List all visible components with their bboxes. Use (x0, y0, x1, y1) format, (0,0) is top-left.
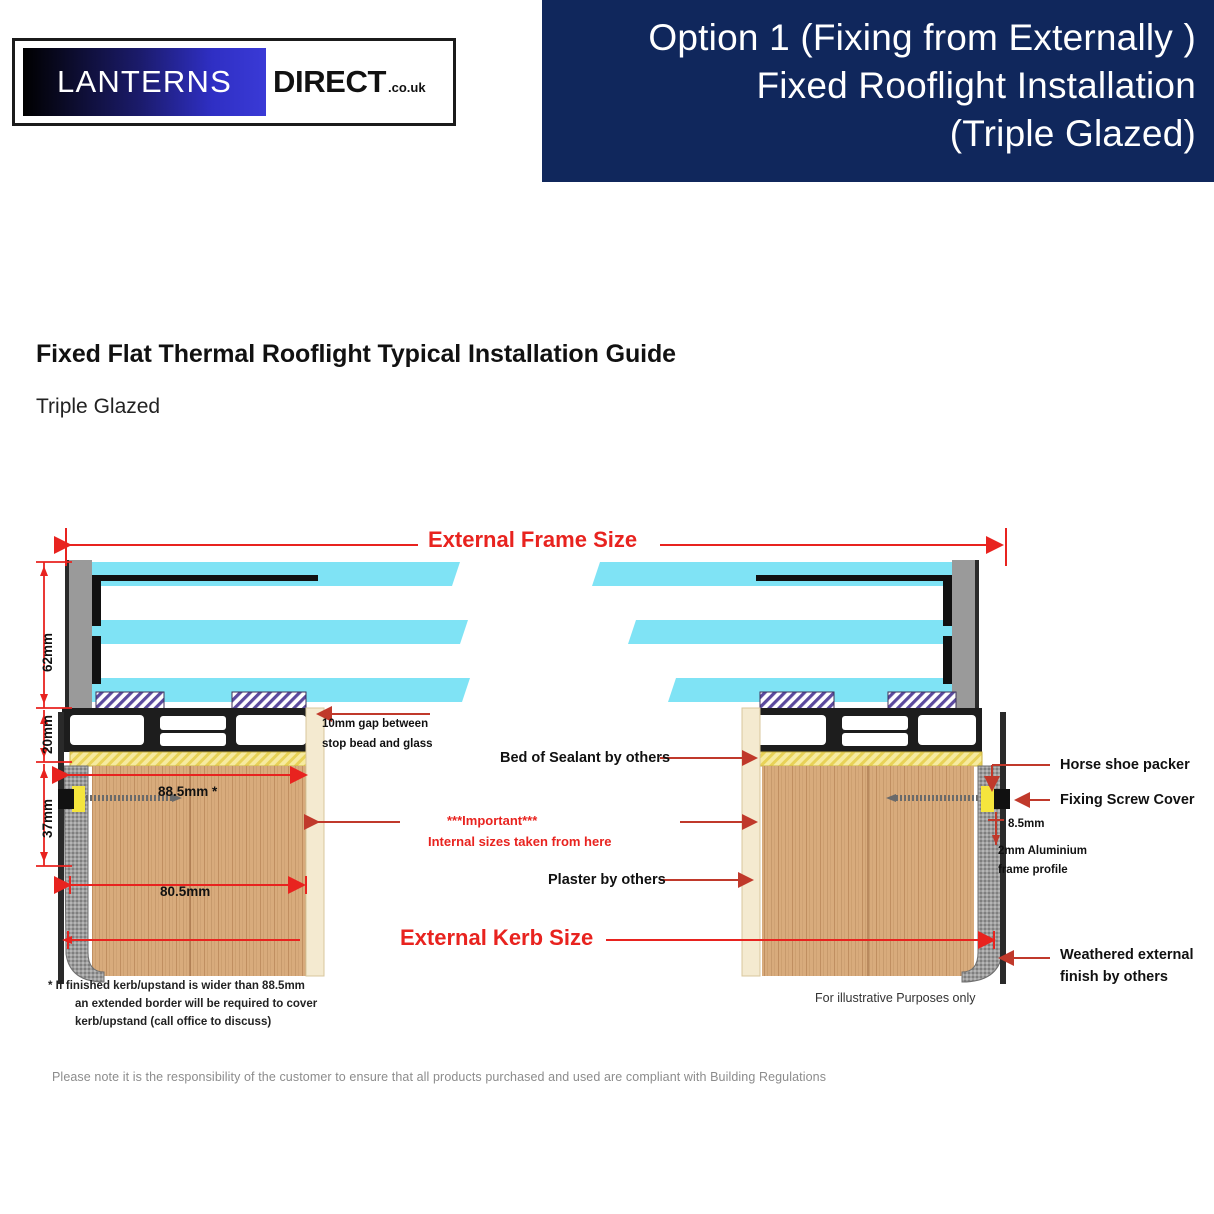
dim-label-80-5mm: 80.5mm (160, 884, 210, 899)
fixing-screw-cover-right (994, 789, 1010, 809)
footnote-line2: an extended border will be required to c… (75, 996, 317, 1013)
callout-aluminium-profile-line2: frame profile (998, 864, 1068, 876)
sealant-bed-right (752, 752, 982, 766)
glass-pane-middle-right (628, 620, 952, 644)
callout-horse-shoe-packer: Horse shoe packer (1060, 757, 1190, 773)
label-external-frame-size: External Frame Size (428, 527, 637, 553)
installation-cross-section-diagram: External Frame Size External Kerb Size 6… (0, 0, 1214, 1214)
plaster-right (742, 708, 760, 976)
dim-label-62mm: 62mm (40, 633, 55, 672)
glass-pane-outer-left (92, 562, 460, 586)
dim-label-88-5mm: 88.5mm * (158, 784, 217, 799)
frame-profile-right (744, 708, 982, 752)
callout-aluminium-profile-line1: 2mm Aluminium (998, 845, 1087, 857)
dim-label-8-5mm: 8.5mm (1008, 818, 1044, 830)
glass-spacer-top-left (92, 575, 318, 581)
callout-plaster: Plaster by others (548, 872, 666, 888)
gasket-outer-right (888, 692, 956, 709)
callout-gap-note-line2: stop bead and glass (322, 738, 433, 750)
gasket-outer-left (96, 692, 164, 709)
callout-fixing-screw-cover: Fixing Screw Cover (1060, 792, 1195, 808)
callout-bed-of-sealant: Bed of Sealant by others (500, 750, 670, 766)
frame-profile-left (62, 708, 312, 752)
callout-weathered-line1: Weathered external (1060, 947, 1194, 963)
glass-spacer-top-right (756, 575, 952, 581)
gasket-inner-left (232, 692, 306, 709)
fixing-screw-cover-left (58, 789, 74, 809)
left-outer-frame-face (68, 560, 92, 720)
building-regs-disclaimer: Please note it is the responsibility of … (52, 1070, 826, 1084)
callout-gap-note-line1: 10mm gap between (322, 718, 428, 730)
footnote-line3: kerb/upstand (call office to discuss) (75, 1014, 271, 1031)
cross-section-svg (0, 0, 1214, 1214)
callout-important-line2: Internal sizes taken from here (428, 834, 612, 849)
footnote-line1: * If finished kerb/upstand is wider than… (48, 978, 305, 995)
dim-label-37mm: 37mm (40, 799, 55, 838)
illustrative-note: For illustrative Purposes only (815, 991, 975, 1005)
glass-pane-outer-right (592, 562, 952, 586)
gasket-inner-right (760, 692, 834, 709)
glass-pane-middle-left (92, 620, 468, 644)
dim-label-20mm: 20mm (40, 715, 55, 754)
label-external-kerb-size: External Kerb Size (400, 925, 593, 951)
callout-weathered-line2: finish by others (1060, 969, 1168, 985)
callout-important-line1: ***Important*** (447, 813, 537, 828)
sealant-bed-left (70, 752, 312, 766)
